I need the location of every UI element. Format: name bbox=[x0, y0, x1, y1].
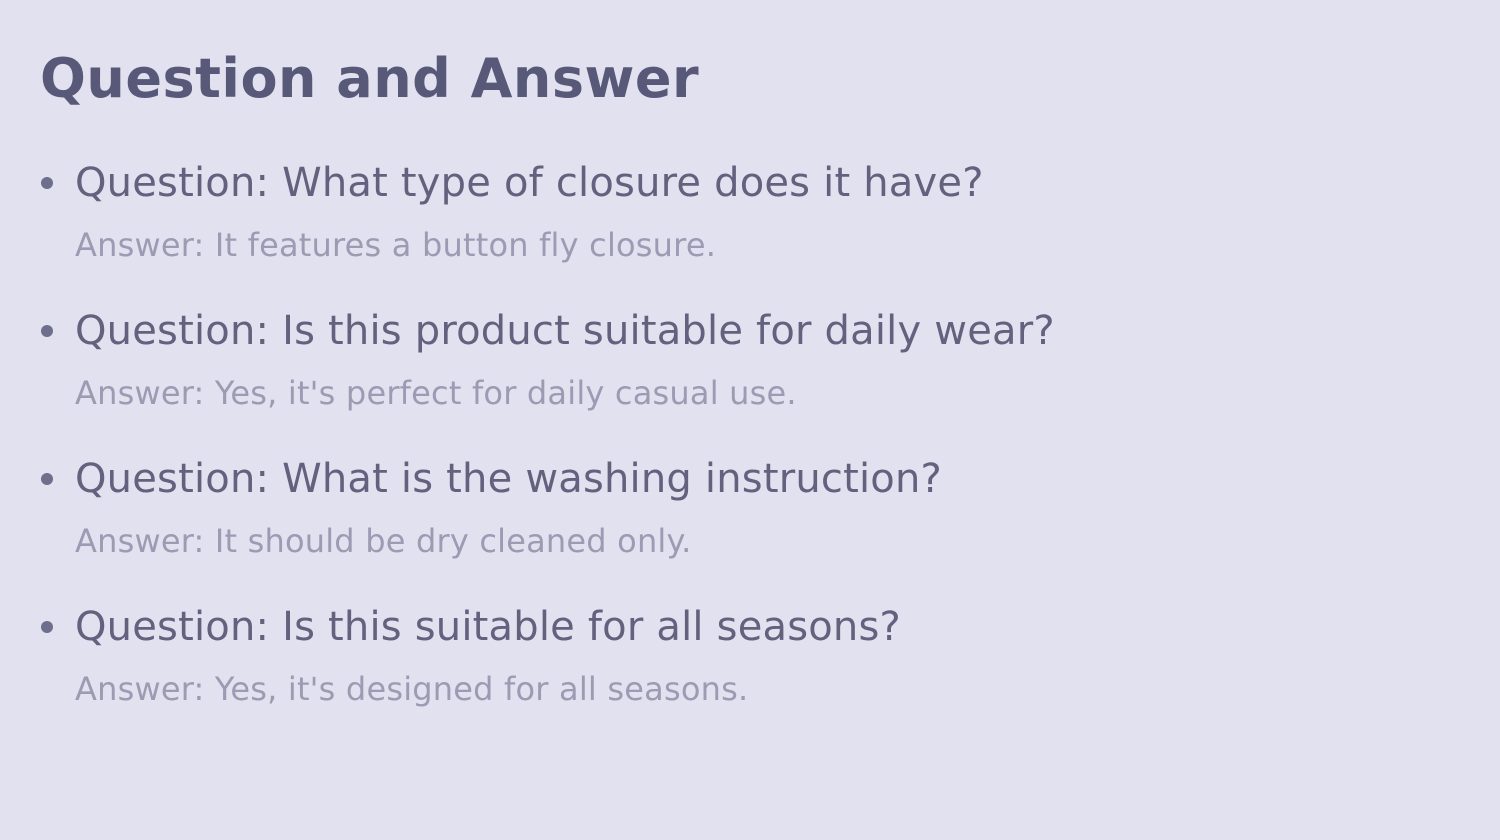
qa-answer: Answer: Yes, it's designed for all seaso… bbox=[75, 666, 1500, 712]
bullet-dot-icon bbox=[41, 325, 53, 337]
qa-question: Question: What type of closure does it h… bbox=[75, 156, 1500, 210]
list-item: Question: What is the washing instructio… bbox=[0, 452, 1500, 564]
qa-answer: Answer: It features a button fly closure… bbox=[75, 222, 1500, 268]
bullet-dot-icon bbox=[41, 621, 53, 633]
qa-answer: Answer: It should be dry cleaned only. bbox=[75, 518, 1500, 564]
page-title: Question and Answer bbox=[40, 48, 699, 110]
qa-question: Question: Is this product suitable for d… bbox=[75, 304, 1500, 358]
qa-list: Question: What type of closure does it h… bbox=[0, 156, 1500, 712]
qa-answer: Answer: Yes, it's perfect for daily casu… bbox=[75, 370, 1500, 416]
bullet-dot-icon bbox=[41, 473, 53, 485]
qa-question: Question: What is the washing instructio… bbox=[75, 452, 1500, 506]
list-item: Question: Is this suitable for all seaso… bbox=[0, 600, 1500, 712]
qa-slide: Question and Answer Question: What type … bbox=[0, 0, 1500, 840]
list-item: Question: Is this product suitable for d… bbox=[0, 304, 1500, 416]
list-item: Question: What type of closure does it h… bbox=[0, 156, 1500, 268]
qa-question: Question: Is this suitable for all seaso… bbox=[75, 600, 1500, 654]
bullet-dot-icon bbox=[41, 177, 53, 189]
